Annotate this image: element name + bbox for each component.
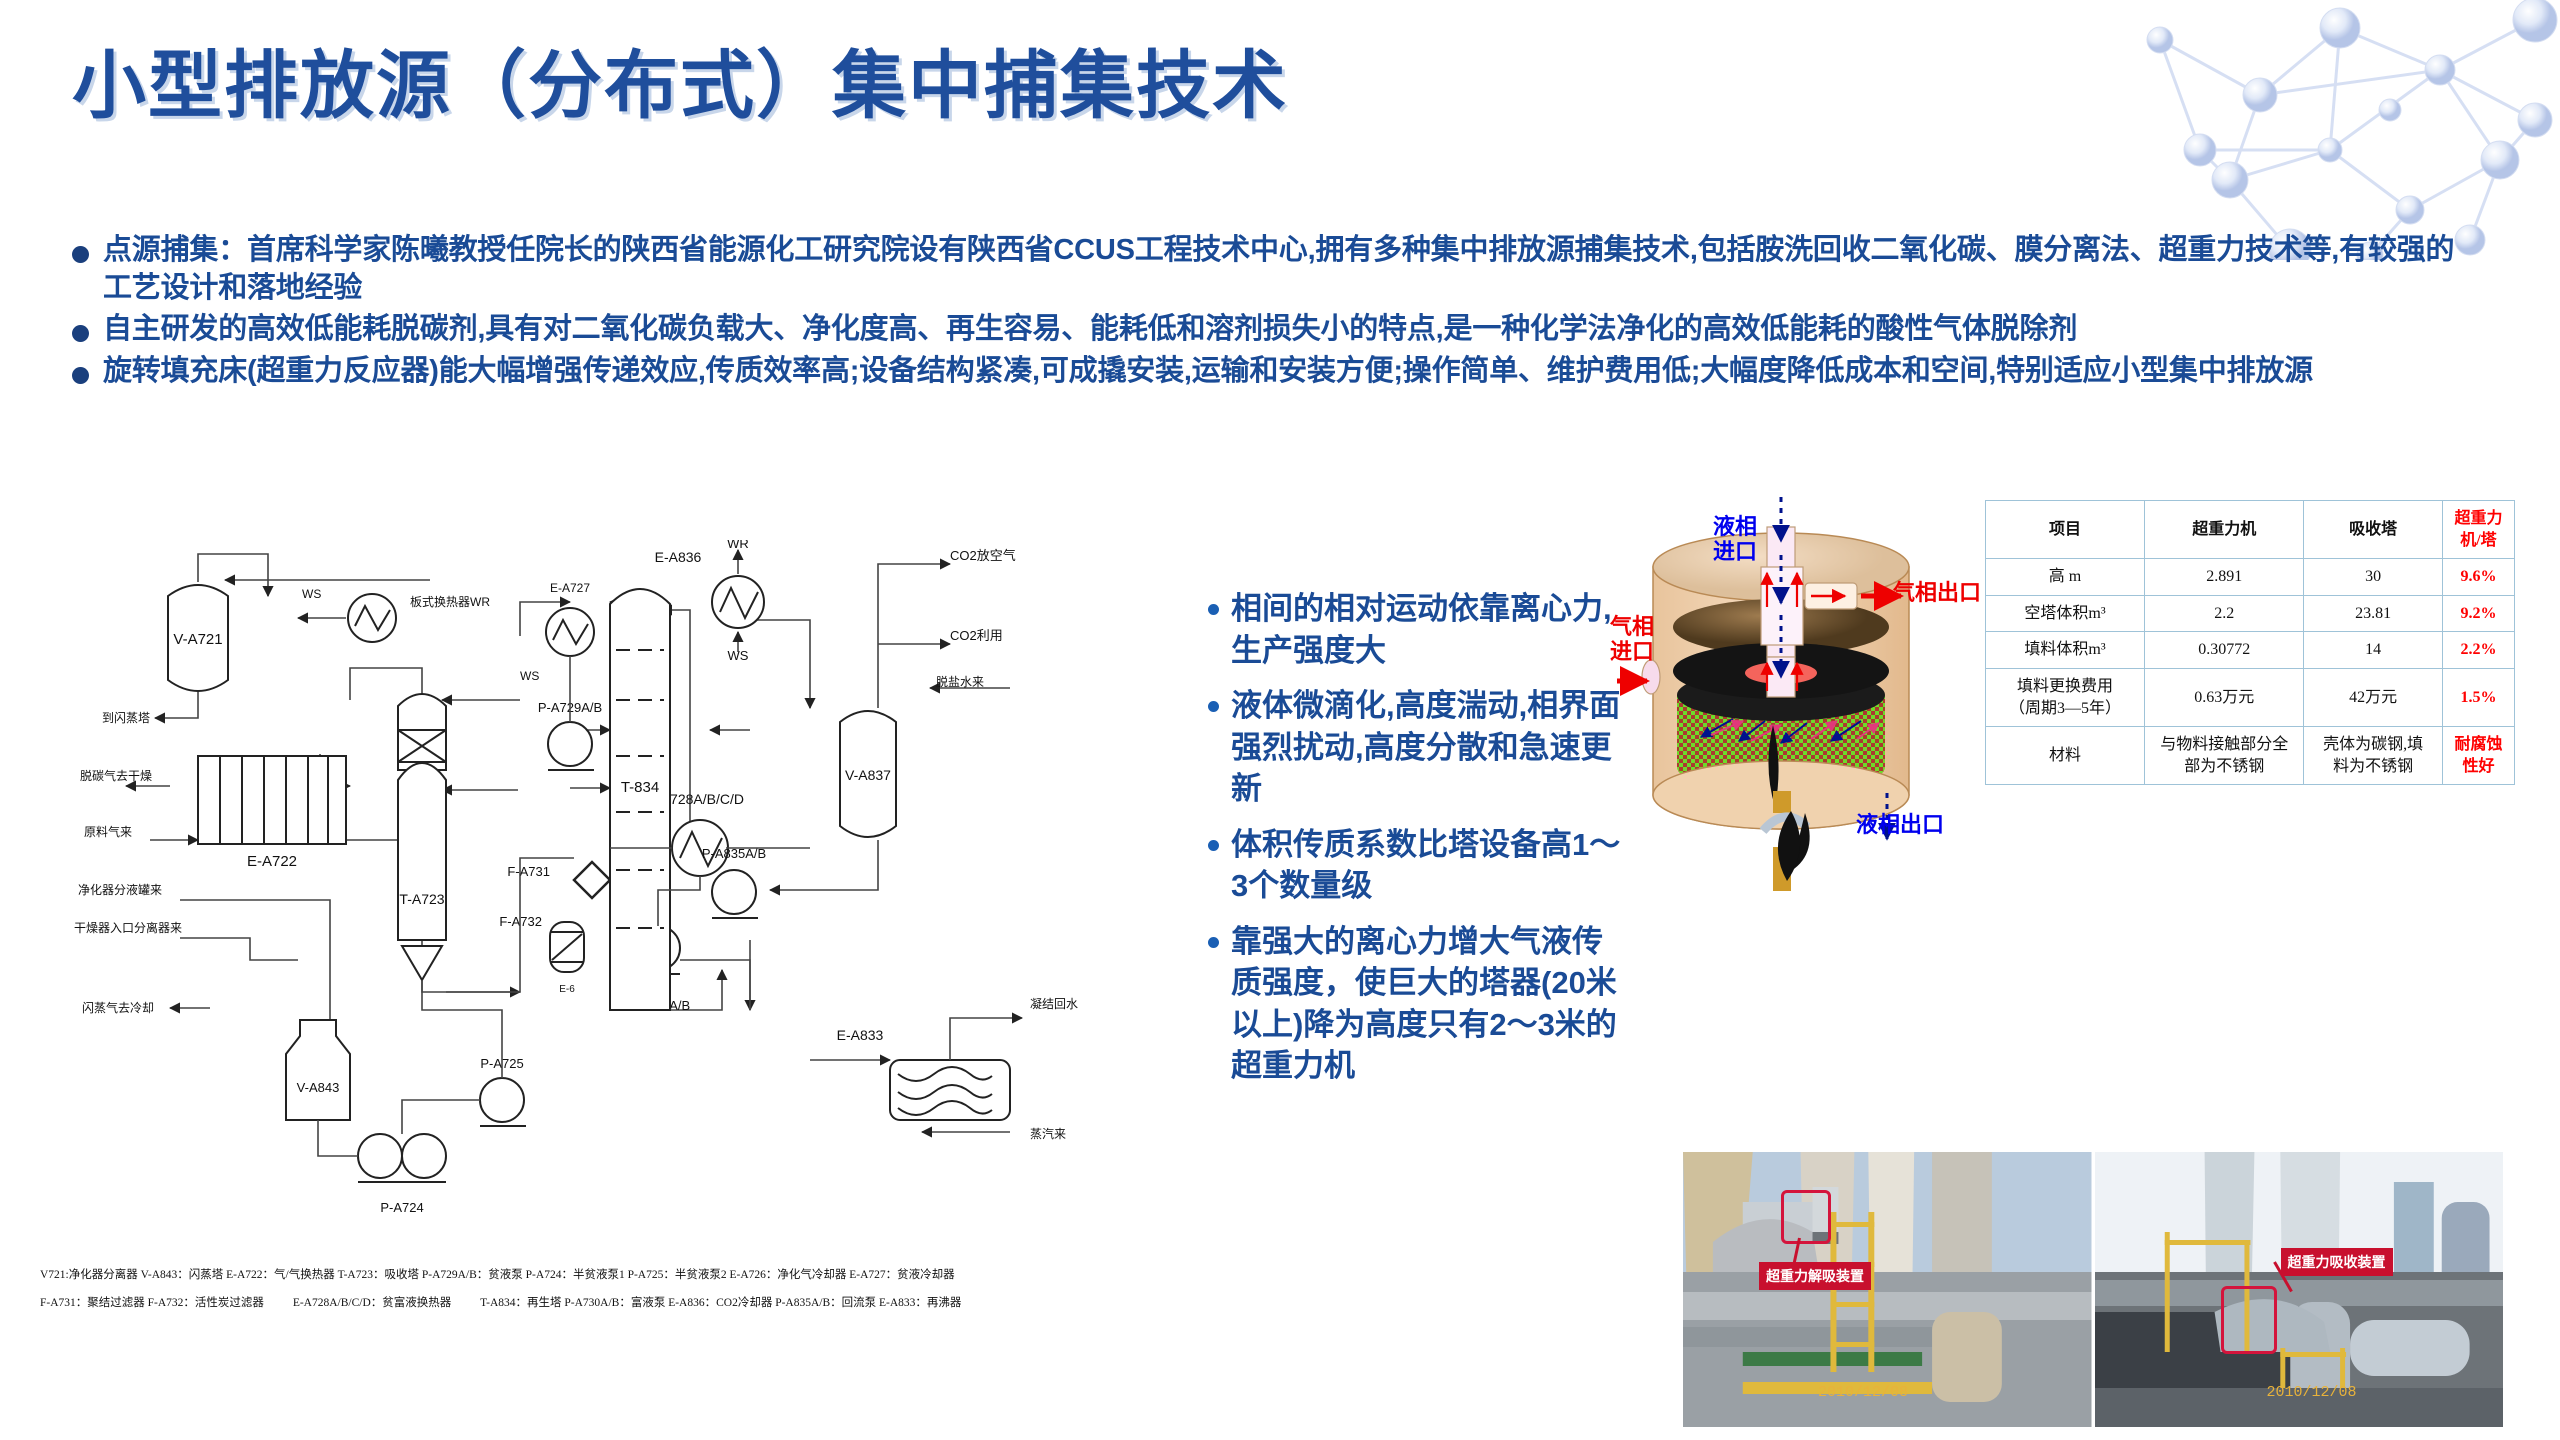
pfd-label-v-a837: V-A837 (845, 767, 891, 783)
photo-desorption-unit: 超重力解吸装置 2010/12/08 (1683, 1152, 2092, 1427)
pfd-label-to-flash: 到闪蒸塔 (102, 711, 150, 725)
pfd-label-wr: WR (727, 540, 749, 551)
cell-item: 高 m (1986, 559, 2145, 596)
bullet-text-3: 旋转填充床(超重力反应器)能大幅增强传递效应,传质效率高;设备结构紧凑,可成撬安… (103, 353, 2313, 391)
cell-ratio: 耐腐蚀性好 (2442, 727, 2514, 785)
bullet-item-2: 自主研发的高效低能耗脱碳剂,具有对二氧化碳负载大、净化度高、再生容易、能耗低和溶… (60, 311, 2460, 349)
bullet-marker-icon (72, 246, 89, 263)
feature-text-1: 相间的相对运动依靠离心力,生产强度大 (1231, 588, 1628, 671)
cell-rpb: 2.2 (2145, 595, 2304, 632)
photo-strip: 超重力解吸装置 2010/12/08 超重力吸收 (1683, 1152, 2503, 1427)
cell-ratio: 9.6% (2442, 559, 2514, 596)
pfd-label-ws-1: WS (302, 587, 321, 601)
bullet-text-1: 点源捕集：首席科学家陈曦教授任院长的陕西省能源化工研究院设有陕西省CCUS工程技… (103, 232, 2460, 307)
photo-highlight-box (2221, 1286, 2277, 1354)
cell-ratio: 9.2% (2442, 595, 2514, 632)
table-row: 高 m 2.891 30 9.6% (1986, 559, 2515, 596)
table-row: 空塔体积m³ 2.2 23.81 9.2% (1986, 595, 2515, 632)
pfd-label-e-a833: E-A833 (837, 1027, 884, 1043)
bullet-marker-icon (72, 325, 89, 342)
pfd-label-e-a727: E-A727 (550, 581, 590, 595)
pfd-label-e-a722: E-A722 (247, 853, 297, 870)
cell-item: 材料 (1986, 727, 2145, 785)
pfd-label-t-a723: T-A723 (399, 891, 444, 907)
rpb-illustration (1615, 495, 2015, 895)
cell-tower: 30 (2304, 559, 2442, 596)
table-row: 材料 与物料接触部分全部为不锈钢 壳体为碳钢,填料为不锈钢 耐腐蚀性好 (1986, 727, 2515, 785)
rpb-label-gas-inlet: 气相 进口 (1610, 614, 1654, 665)
cell-rpb: 2.891 (2145, 559, 2304, 596)
pfd-label-flash-cool: 闪蒸气去冷却 (82, 1000, 154, 1015)
photo-tag-absorption: 超重力吸收装置 (2281, 1248, 2393, 1276)
rpb-label-liquid-outlet: 液相出口 (1856, 812, 1944, 837)
cell-item: 空塔体积m³ (1986, 595, 2145, 632)
feature-text-2: 液体微滴化,高度湍动,相界面强烈扰动,高度分散和急速更新 (1231, 685, 1628, 810)
bullet-marker-icon (1208, 840, 1219, 851)
bullet-list: 点源捕集：首席科学家陈曦教授任院长的陕西省能源化工研究院设有陕西省CCUS工程技… (60, 232, 2460, 395)
photo-absorption-unit: 超重力吸收装置 2010/12/08 (2095, 1152, 2504, 1427)
pfd-label-sep-tank: 净化器分液罐来 (78, 882, 162, 897)
bullet-item-3: 旋转填充床(超重力反应器)能大幅增强传递效应,传质效率高;设备结构紧凑,可成撬安… (60, 353, 2460, 391)
cell-tower: 壳体为碳钢,填料为不锈钢 (2304, 727, 2442, 785)
pfd-label-v-a843: V-A843 (297, 1080, 340, 1095)
pfd-label-e-6: E-6 (559, 984, 575, 995)
pfd-legend-line-2c: T-A834：再生塔 P-A730A/B：富液泵 E-A836：CO2冷却器 P… (480, 1297, 961, 1309)
pfd-label-ws-2: WS (520, 669, 539, 683)
page-title: 小型排放源（分布式）集中捕集技术 (72, 26, 1288, 133)
pfd-label-feed-gas: 原料气来 (84, 824, 132, 839)
cell-tower: 14 (2304, 632, 2442, 669)
network-decoration (2140, 0, 2560, 260)
process-flow-diagram: V-A721 到闪蒸塔 板式换热器WR WS E-A722 脱碳气去干燥 原料气… (50, 540, 1210, 1260)
bullet-item-1: 点源捕集：首席科学家陈曦教授任院长的陕西省能源化工研究院设有陕西省CCUS工程技… (60, 232, 2460, 307)
rpb-label-gas-outlet: 气相出口 (1893, 580, 1981, 605)
pfd-legend-line-1: V721:净化器分离器 V-A843：闪蒸塔 E-A722：气/气换热器 T-A… (40, 1262, 1240, 1290)
rpb-label-liquid-inlet: 液相 进口 (1713, 514, 1757, 565)
pfd-label-t-834: T-834 (621, 779, 659, 796)
bullet-lead-1: 点源捕集： (103, 234, 247, 266)
pfd-label-steam-in: 蒸汽来 (1030, 1126, 1066, 1141)
feature-item-1: 相间的相对运动依靠离心力,生产强度大 (1208, 588, 1628, 671)
pfd-label-decarb-gas: 脱碳气去干燥 (80, 768, 152, 783)
pfd-label-f-a731: F-A731 (507, 864, 550, 879)
pfd-label-dryer-sep: 干燥器入口分离器来 (74, 920, 182, 935)
th-tower: 吸收塔 (2304, 501, 2442, 559)
pfd-legend: V721:净化器分离器 V-A843：闪蒸塔 E-A722：气/气换热器 T-A… (40, 1262, 1240, 1317)
bullet-marker-icon (1208, 701, 1219, 712)
pfd-legend-line-2b: E-A728A/B/C/D：贫富液换热器 (293, 1297, 451, 1309)
bullet-marker-icon (72, 367, 89, 384)
pfd-label-p-a724: P-A724 (380, 1200, 423, 1215)
pfd-label-co2-use: CO2利用 (950, 628, 1003, 643)
table-row: 填料体积m³ 0.30772 14 2.2% (1986, 632, 2515, 669)
photo-highlight-box (1781, 1190, 1831, 1244)
bullet-marker-icon (1208, 604, 1219, 615)
feature-item-3: 体积传质系数比塔设备高1～3个数量级 (1208, 824, 1628, 907)
pfd-label-plate-hx: 板式换热器WR (410, 595, 490, 609)
feature-bullet-list: 相间的相对运动依靠离心力,生产强度大 液体微滴化,高度湍动,相界面强烈扰动,高度… (1208, 588, 1628, 1101)
bullet-marker-icon (1208, 937, 1219, 948)
cell-rpb: 0.63万元 (2145, 668, 2304, 726)
bullet-text-2: 自主研发的高效低能耗脱碳剂,具有对二氧化碳负载大、净化度高、再生容易、能耗低和溶… (103, 311, 2077, 349)
photo-date: 2010/12/08 (2267, 1384, 2357, 1401)
cell-ratio: 1.5% (2442, 668, 2514, 726)
feature-item-2: 液体微滴化,高度湍动,相界面强烈扰动,高度分散和急速更新 (1208, 685, 1628, 810)
feature-text-3: 体积传质系数比塔设备高1～3个数量级 (1231, 824, 1628, 907)
pfd-legend-line-2a: F-A731：聚结过滤器 F-A732：活性炭过滤器 (40, 1297, 264, 1309)
cell-item: 填料体积m³ (1986, 632, 2145, 669)
table-row: 填料更换费用 （周期3—5年） 0.63万元 42万元 1.5% (1986, 668, 2515, 726)
photo-date: 2010/12/08 (1818, 1384, 1908, 1401)
feature-text-4: 靠强大的离心力增大气液传质强度，使巨大的塔器(20米以上)降为高度只有2～3米的… (1231, 921, 1628, 1087)
photo-tag-desorption: 超重力解吸装置 (1759, 1262, 1871, 1290)
cell-rpb: 与物料接触部分全部为不锈钢 (2145, 727, 2304, 785)
pfd-label-demin-water: 脱盐水来 (936, 674, 984, 689)
cell-tower: 42万元 (2304, 668, 2442, 726)
cell-item: 填料更换费用 （周期3—5年） (1986, 668, 2145, 726)
feature-item-4: 靠强大的离心力增大气液传质强度，使巨大的塔器(20米以上)降为高度只有2～3米的… (1208, 921, 1628, 1087)
cell-tower: 23.81 (2304, 595, 2442, 632)
th-ratio: 超重力机/塔 (2442, 501, 2514, 559)
cell-ratio: 2.2% (2442, 632, 2514, 669)
cell-rpb: 0.30772 (2145, 632, 2304, 669)
pfd-label-co2-vent: CO2放空气 (950, 548, 1016, 563)
pfd-label-v-a721: V-A721 (173, 631, 222, 648)
th-item: 项目 (1986, 501, 2145, 559)
th-rpb: 超重力机 (2145, 501, 2304, 559)
pfd-label-e-a836: E-A836 (655, 549, 702, 565)
pfd-label-cond-return: 凝结回水 (1030, 996, 1078, 1011)
pfd-legend-line-2: F-A731：聚结过滤器 F-A732：活性炭过滤器 E-A728A/B/C/D… (40, 1290, 1240, 1318)
table-header-row: 项目 超重力机 吸收塔 超重力机/塔 (1986, 501, 2515, 559)
comparison-table: 项目 超重力机 吸收塔 超重力机/塔 高 m 2.891 30 9.6% 空塔体… (1985, 500, 2515, 785)
